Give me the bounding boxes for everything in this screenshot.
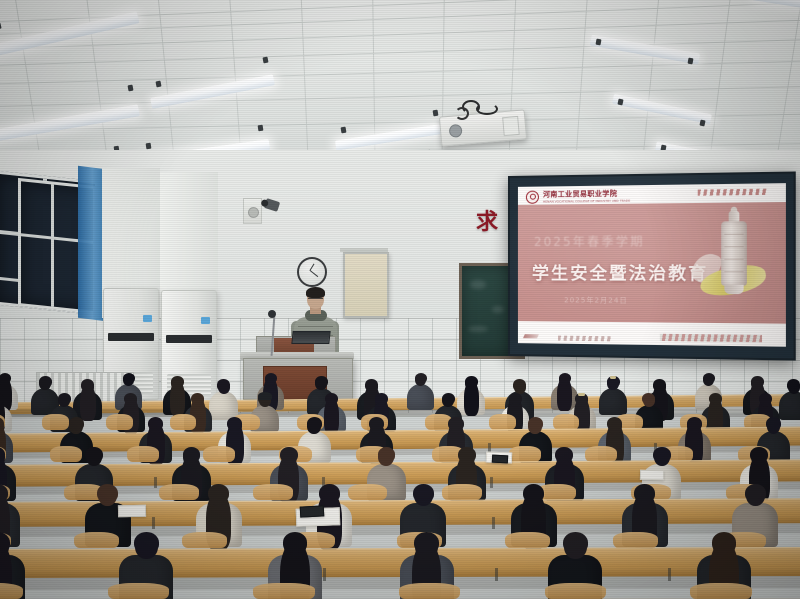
student-hair (265, 373, 277, 383)
seat-back (613, 532, 658, 548)
student-hair (653, 447, 671, 462)
student-hair (642, 393, 655, 404)
student-hair (513, 379, 526, 390)
seat-back (399, 583, 460, 599)
wall-speaker (243, 198, 262, 224)
vase-body (721, 221, 747, 286)
student-hair (528, 417, 543, 430)
student-hair (85, 447, 103, 462)
student-hair (523, 484, 544, 502)
footer-arrow-decoration (523, 334, 539, 338)
student-hair (280, 447, 298, 462)
student-hair (687, 417, 702, 430)
microphone-icon (268, 310, 276, 318)
student-hair (283, 532, 308, 553)
seat-back (203, 446, 235, 462)
papers (640, 470, 664, 480)
seat-back (545, 583, 606, 599)
projection-screen[interactable]: 河南工业贸易职业学院 HENAN VOCATIONAL COLLEGE OF I… (508, 171, 796, 360)
seat-back (42, 414, 69, 430)
vase-foot (724, 285, 743, 294)
student-hair (39, 376, 52, 387)
seat-back (127, 446, 159, 462)
phone (492, 455, 508, 464)
student-hair (559, 373, 571, 383)
student-hair (171, 376, 184, 387)
student-hair (134, 532, 159, 553)
student-hair (58, 393, 71, 404)
seat-back (74, 532, 119, 548)
beanie-icon (258, 392, 272, 400)
seat-back (170, 414, 197, 430)
seat-back (348, 484, 388, 500)
notice-board (343, 252, 389, 318)
student-hair (709, 393, 722, 404)
student-hair (208, 484, 229, 502)
hair-clip-icon (610, 376, 616, 378)
seal-icon (526, 190, 539, 203)
slide-subtitle: 2025年春季学期 (534, 232, 720, 250)
seat-back (585, 446, 617, 462)
decorative-vase-illustration (715, 207, 754, 301)
student-torso (779, 391, 800, 419)
seat-back (108, 583, 169, 599)
student-hair (653, 379, 666, 390)
wall-clock (297, 257, 327, 287)
seat-back (0, 583, 23, 599)
lecture-hall-photo: 求 河南工业贸易职业学院 HENAN VOCATIONAL COLLEGE OF… (0, 0, 800, 599)
seat-back (182, 532, 227, 548)
phone (300, 505, 325, 517)
seat-back (489, 414, 516, 430)
student-hair (607, 417, 622, 430)
footer-stripe-decoration (660, 334, 762, 342)
student-hair (458, 447, 476, 462)
slide-date: 2025年2月24日 (564, 295, 628, 306)
glasses-icon (308, 298, 323, 302)
student-hair (227, 417, 242, 430)
student-hair (442, 393, 455, 404)
seat-back (509, 446, 541, 462)
student-hair (712, 532, 737, 553)
student-hair (378, 447, 396, 462)
student-hair (750, 447, 768, 462)
footer-stripe-decoration (558, 336, 613, 342)
student-hair (465, 376, 478, 387)
air-conditioner-unit (161, 290, 217, 402)
student-hair (315, 376, 328, 387)
projector-cable (455, 107, 469, 120)
student-hair (365, 379, 378, 390)
seat-back (442, 484, 482, 500)
presenter-hair (306, 287, 325, 298)
student-hair (759, 393, 772, 404)
student-hair (745, 484, 766, 502)
wall-slogan-character: 求 (476, 212, 498, 234)
student-hair (325, 393, 338, 404)
institution-logo: 河南工业贸易职业学院 HENAN VOCATIONAL COLLEGE OF I… (526, 188, 630, 203)
presentation-slide: 河南工业贸易职业学院 HENAN VOCATIONAL COLLEGE OF I… (518, 183, 786, 347)
student-hair (0, 373, 11, 383)
seat-back (253, 484, 293, 500)
student-hair (563, 532, 588, 553)
projector-lens (449, 124, 463, 138)
student-hair (97, 484, 118, 502)
slide-bottom-band (518, 321, 786, 347)
speaker-cone (248, 207, 259, 218)
student-hair (703, 373, 715, 383)
student-hair (766, 417, 781, 430)
student-hair (751, 376, 764, 387)
student-hair (414, 532, 439, 553)
seat-back (159, 484, 199, 500)
student-hair (375, 393, 388, 404)
student-hair (183, 447, 201, 462)
laptop (291, 331, 330, 344)
student-hair (319, 484, 340, 502)
student-torso (599, 388, 627, 415)
papers (118, 505, 146, 517)
student-hair (415, 373, 427, 383)
student-hair (787, 379, 800, 390)
seat-back (505, 532, 550, 548)
seat-back (253, 583, 314, 599)
student-hair (413, 484, 434, 502)
student-hair (124, 393, 137, 404)
student-hair (148, 417, 163, 430)
header-dash-decoration (698, 189, 769, 196)
student-hair (307, 417, 322, 430)
student-hair (634, 484, 655, 502)
projector-vent (502, 116, 520, 136)
student-torso (209, 391, 238, 419)
seat-back (50, 446, 82, 462)
projector-cable (476, 103, 498, 115)
seat-back (106, 414, 133, 430)
student-hair (555, 447, 573, 462)
student-hair (123, 373, 135, 383)
student-hair (191, 393, 204, 404)
student-hair (509, 393, 522, 404)
student-hair (69, 417, 84, 430)
student-hair (448, 417, 463, 430)
student-torso (407, 384, 434, 410)
seat-back (690, 583, 751, 599)
student-hair (81, 379, 94, 390)
hair-clip-icon (578, 393, 584, 395)
student-hair (217, 379, 230, 390)
student-hair (369, 417, 384, 430)
